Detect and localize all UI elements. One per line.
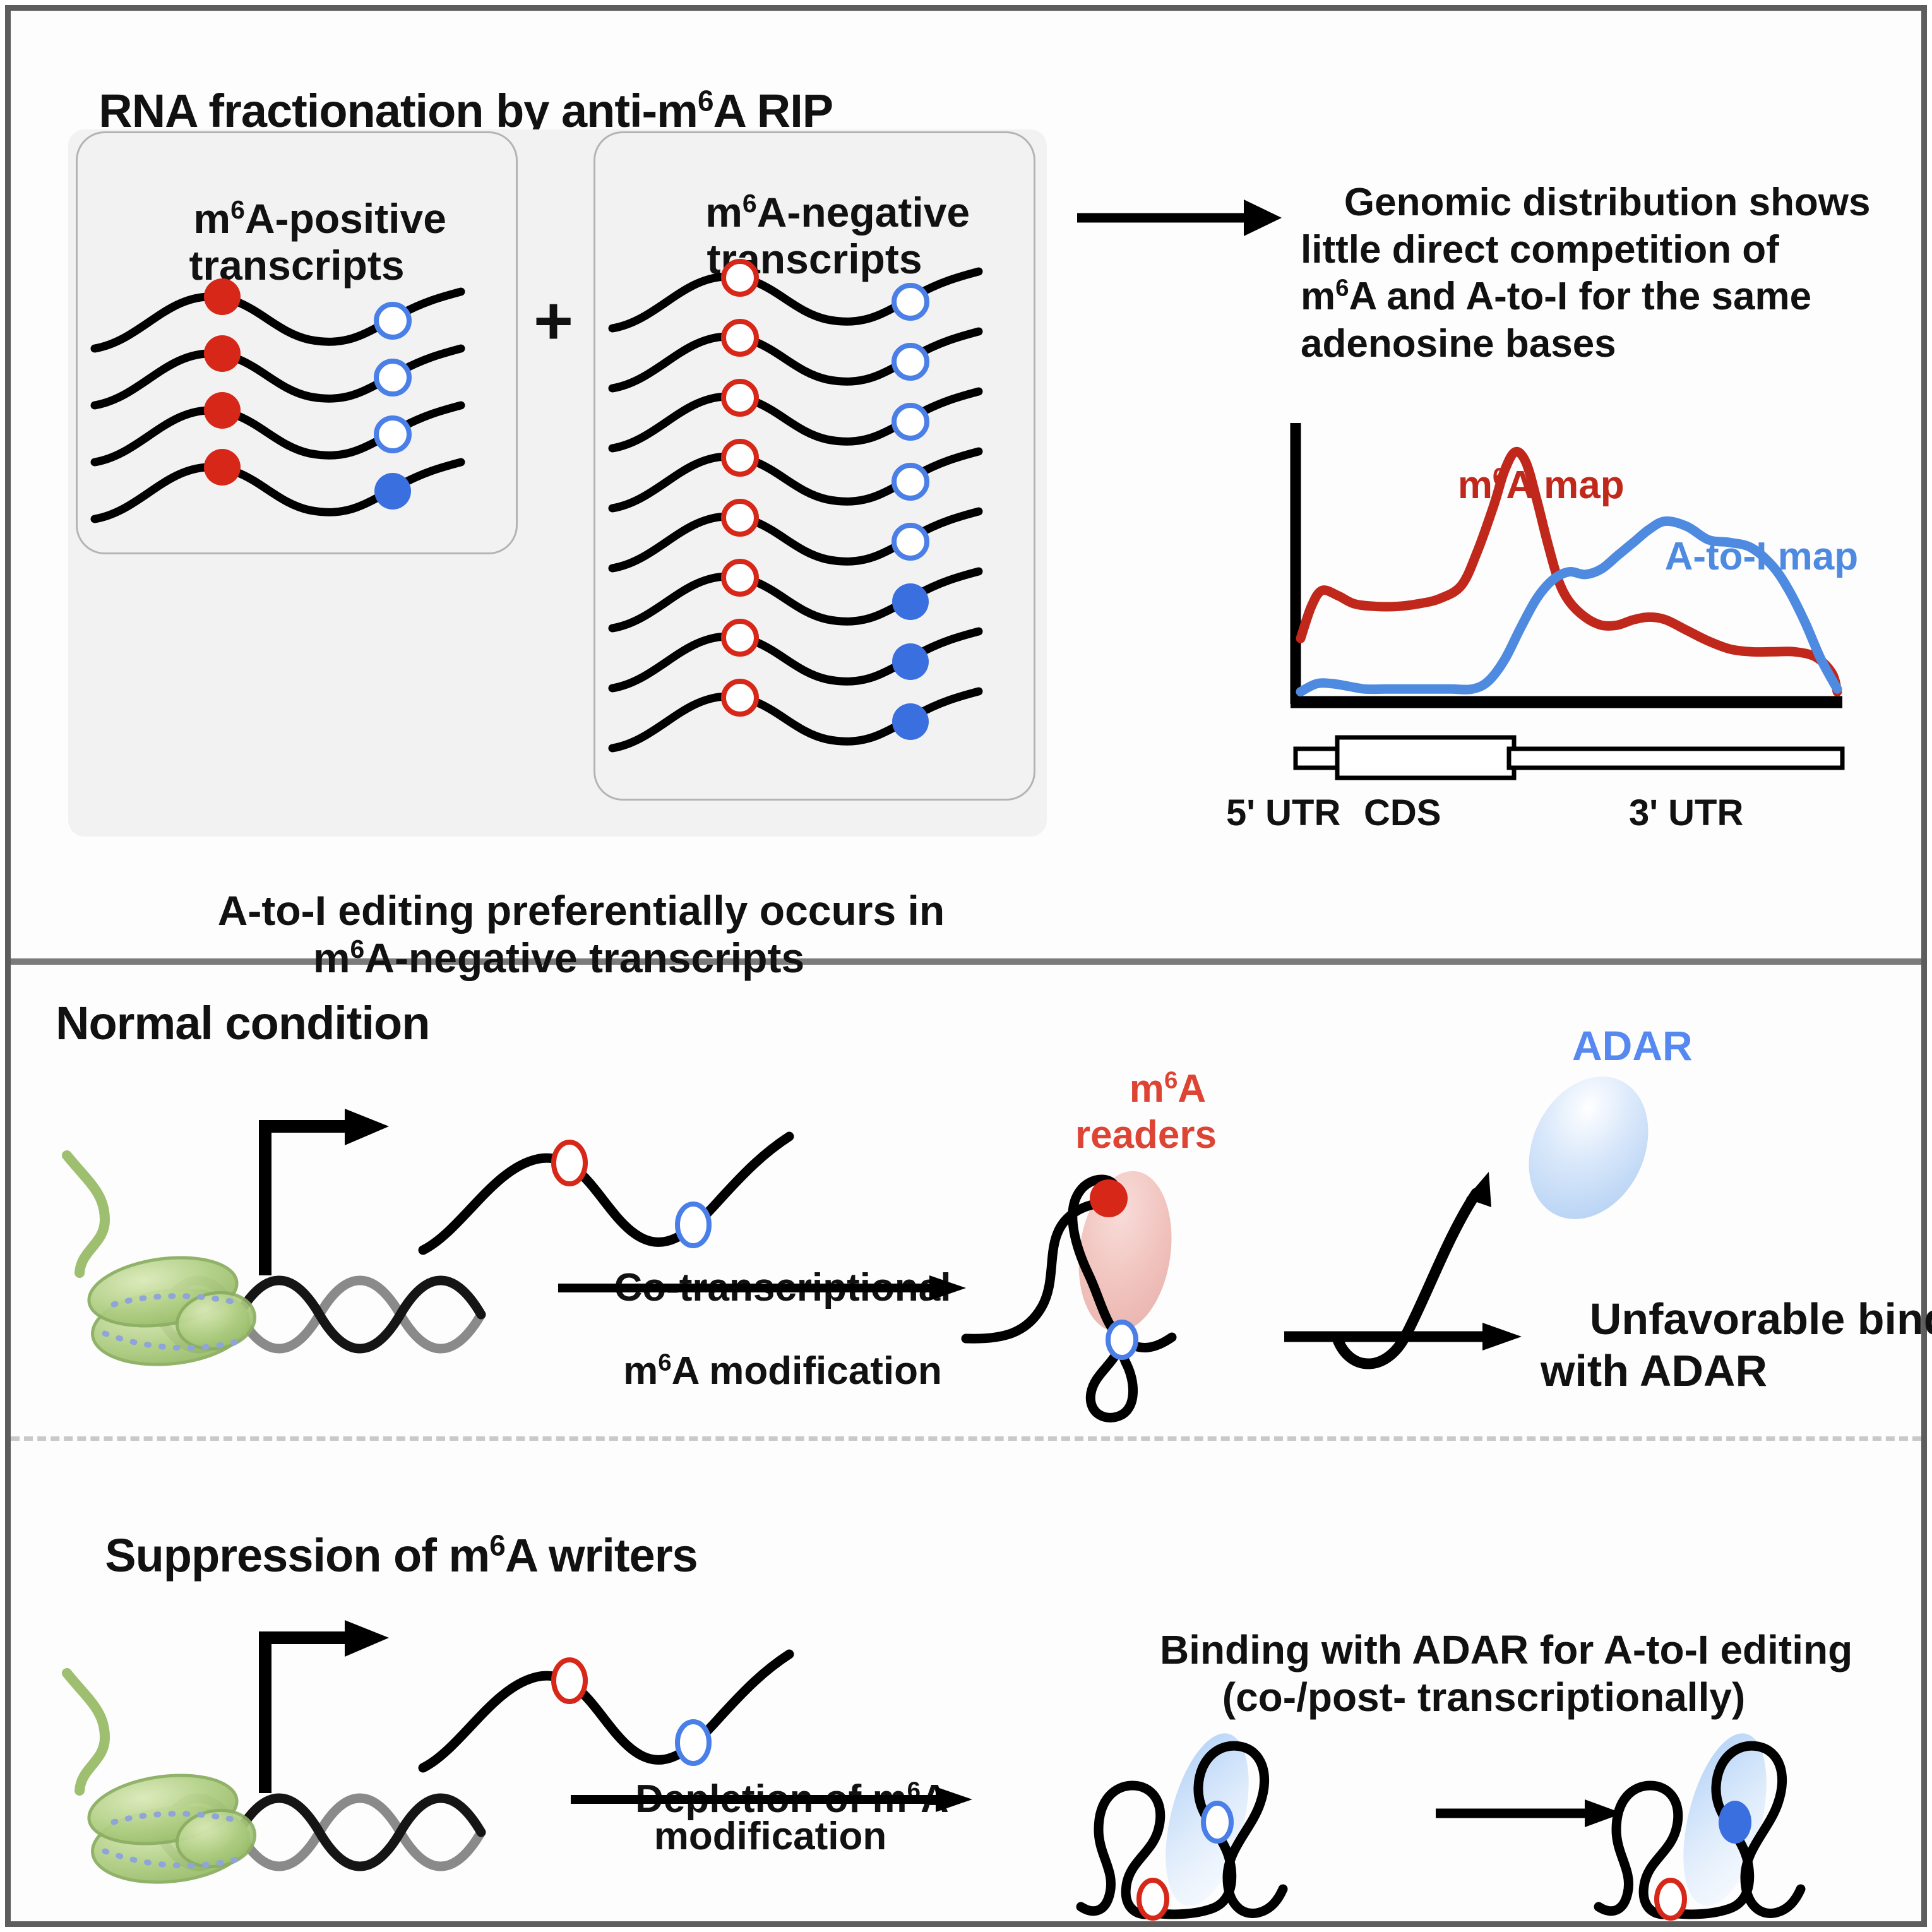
conclusion-line3-sup: 6 xyxy=(1335,275,1349,302)
marker-atoi-open xyxy=(376,304,409,337)
arrow-label-modification: modification xyxy=(568,1813,972,1859)
box-title-sup: 6 xyxy=(230,195,245,224)
conclusion-text: Genomic distribution showslittle direct … xyxy=(1301,133,1919,414)
marker-atoi-open xyxy=(894,345,927,378)
marker-m6a-filled-group xyxy=(204,278,241,486)
box-title-post: A-positive xyxy=(245,195,446,242)
marker-m6a-filled xyxy=(204,278,241,315)
gene-model-track xyxy=(1282,732,1888,783)
box-title-pre: m xyxy=(193,195,230,242)
marker-m6a-open xyxy=(554,1660,585,1702)
marker-atoi-filled xyxy=(892,643,929,680)
suppression-title-post: A writers xyxy=(505,1529,698,1582)
suppression-title-sup: 6 xyxy=(489,1529,505,1561)
chart-legend-atoi: A-to-I map xyxy=(1623,491,1858,623)
marker-atoi-filled xyxy=(1719,1801,1751,1844)
box-title-post: A-negative xyxy=(757,189,970,236)
marker-atoi-filled xyxy=(892,703,929,740)
marker-atoi-group xyxy=(374,304,411,510)
chart-legend-m6a: m6A map xyxy=(1414,420,1625,551)
readers-label-post: A xyxy=(1178,1067,1206,1111)
panel-title-normal-condition: Normal condition xyxy=(56,998,429,1050)
marker-atoi-open xyxy=(376,361,409,394)
marker-m6a-open xyxy=(724,681,756,714)
outcome-line2: with ADAR xyxy=(1541,1346,1767,1395)
marker-atoi-open xyxy=(1108,1322,1136,1357)
box-title-sup: 6 xyxy=(742,189,757,218)
rna-hairpins-after-editing xyxy=(1591,1698,1919,1932)
marker-m6a-open xyxy=(724,621,756,654)
arrow-to-outcome-icon xyxy=(1282,1323,1522,1351)
marker-atoi-group xyxy=(892,285,929,740)
axis-tick-3utr: 3' UTR xyxy=(1629,793,1743,834)
gene-model-3utr xyxy=(1509,749,1842,768)
marker-atoi-open xyxy=(376,418,409,451)
conclusion-line2: little direct competition of xyxy=(1301,228,1779,271)
marker-atoi-open xyxy=(894,405,927,438)
readers-label-sup: 6 xyxy=(1164,1067,1178,1094)
marker-m6a-open xyxy=(1139,1880,1167,1918)
axis-tick-5utr: 5' UTR xyxy=(1226,793,1340,834)
marker-atoi-open xyxy=(894,525,927,558)
marker-m6a-open xyxy=(724,321,756,354)
marker-m6a-open xyxy=(724,561,756,594)
arrow-cotranscriptional-icon xyxy=(556,1275,966,1301)
transcription-start-arrow-icon xyxy=(253,1610,404,1799)
gene-model-5utr xyxy=(1296,749,1341,768)
marker-atoi-open xyxy=(894,465,927,498)
caption-line2-post: A-negative transcripts xyxy=(364,934,804,981)
panel-title-sup: 6 xyxy=(698,84,713,117)
marker-atoi-filled xyxy=(892,583,929,620)
conclusion-line3-post: A and A-to-I for the same xyxy=(1349,275,1812,318)
conclusion-line4: adenosine bases xyxy=(1301,322,1616,366)
transcription-start-arrow-icon xyxy=(253,1099,404,1282)
arrow-label-m6a-modification: m6A modification xyxy=(556,1302,966,1440)
marker-atoi-filled xyxy=(374,473,411,510)
caption-line2-sup: 6 xyxy=(350,934,365,963)
conclusion-line3-pre: m xyxy=(1301,275,1335,318)
nascent-rna-tail xyxy=(67,1155,105,1273)
marker-m6a-filled xyxy=(204,335,241,372)
nascent-rna-tail xyxy=(67,1673,105,1791)
transcripts-positive xyxy=(82,265,518,549)
suppression-title-pre: Suppression of m xyxy=(105,1529,489,1582)
conclusion-line1: Genomic distribution shows xyxy=(1344,181,1871,224)
arrow-depletion-icon xyxy=(568,1787,972,1812)
outcome-line1: Unfavorable bind xyxy=(1590,1294,1932,1344)
marker-m6a-open xyxy=(1657,1880,1685,1918)
marker-atoi-open xyxy=(1203,1803,1231,1841)
transcripts-negative xyxy=(603,253,1032,796)
box-title-pre: m xyxy=(705,189,742,236)
marker-m6a-open-group xyxy=(724,261,756,714)
rna-structure-with-readers xyxy=(966,1118,1294,1433)
marker-m6a-open xyxy=(724,381,756,414)
marker-m6a-filled xyxy=(204,449,241,486)
arrow-label-line2-pre: m xyxy=(623,1349,658,1393)
arrow-label-line2-sup: 6 xyxy=(658,1349,671,1376)
axis-tick-cds: CDS xyxy=(1364,793,1441,834)
marker-atoi-open xyxy=(894,285,927,318)
caption-line1: A-to-I editing preferentially occurs in xyxy=(218,887,945,934)
arrow-to-conclusion-icon xyxy=(1073,183,1282,253)
figure-root: RNA fractionation by anti-m6A RIP m6A-po… xyxy=(0,0,1932,1932)
rna-hairpins-before-editing xyxy=(1073,1698,1402,1932)
marker-m6a-open xyxy=(724,261,756,294)
marker-m6a-open xyxy=(724,441,756,474)
marker-m6a-filled xyxy=(204,392,241,429)
gene-model-cds xyxy=(1337,737,1514,778)
marker-m6a-open xyxy=(554,1142,585,1184)
marker-m6a-filled xyxy=(1090,1179,1128,1217)
outcome-unfavorable-bind: Unfavorable bindwith ADAR xyxy=(1541,1241,1932,1449)
binding-line1: Binding with ADAR for A-to-I editing xyxy=(1160,1627,1852,1673)
marker-m6a-open xyxy=(724,501,756,534)
adar-ellipse xyxy=(1506,1056,1671,1239)
plus-symbol: + xyxy=(534,283,573,359)
caption-line2-pre: m xyxy=(313,934,350,981)
adar-protein-icon xyxy=(1496,1054,1686,1250)
readers-label-pre: m xyxy=(1130,1067,1164,1111)
arrow-label-line2-post: A modification xyxy=(672,1349,942,1393)
